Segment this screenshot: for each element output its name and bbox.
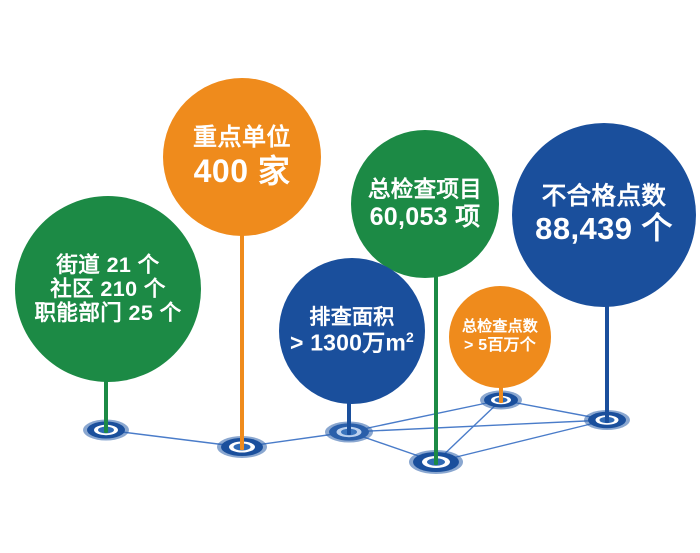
bubble-total-items-label: 总检查项目 <box>368 177 482 202</box>
bubble-check-points-value: > 5百万个 <box>464 337 536 355</box>
bubble-check-points[interactable]: 总检查点数 > 5百万个 <box>449 286 551 388</box>
bubble-inspected-area-value-main: > 1300万m <box>290 330 406 356</box>
infographic-canvas: 街道 21 个 社区 210 个 职能部门 25 个 重点单位 400 家 总检… <box>0 0 700 553</box>
bubble-inspected-area-value-exponent: 2 <box>406 329 414 345</box>
bubble-total-items[interactable]: 总检查项目 60,053 项 <box>351 130 499 278</box>
stem-streets <box>104 375 108 433</box>
bubble-streets[interactable]: 街道 21 个 社区 210 个 职能部门 25 个 <box>15 196 201 382</box>
bubble-total-items-value: 60,053 项 <box>370 203 481 231</box>
bubble-streets-line-1: 街道 21 个 <box>56 253 159 277</box>
connector-line <box>349 400 501 432</box>
bubble-streets-line-3: 职能部门 25 个 <box>35 301 182 325</box>
bubble-unqualified-points[interactable]: 不合格点数 88,439 个 <box>512 123 696 307</box>
stem-items <box>434 272 438 465</box>
bubble-key-units-value: 400 家 <box>194 154 291 190</box>
bubble-streets-line-2: 社区 210 个 <box>50 277 166 301</box>
bubble-check-points-label: 总检查点数 <box>462 319 538 336</box>
bubble-key-units[interactable]: 重点单位 400 家 <box>163 78 321 236</box>
bubble-inspected-area-value: > 1300万m2 <box>290 330 414 356</box>
stem-keyunits <box>240 230 244 450</box>
stem-unqualified <box>605 300 609 423</box>
bubble-unqualified-points-value: 88,439 个 <box>535 212 673 247</box>
bubble-key-units-label: 重点单位 <box>193 125 291 152</box>
bubble-unqualified-points-label: 不合格点数 <box>542 183 667 210</box>
bubble-inspected-area[interactable]: 排查面积 > 1300万m2 <box>279 258 425 404</box>
bubble-inspected-area-label: 排查面积 <box>309 306 394 330</box>
